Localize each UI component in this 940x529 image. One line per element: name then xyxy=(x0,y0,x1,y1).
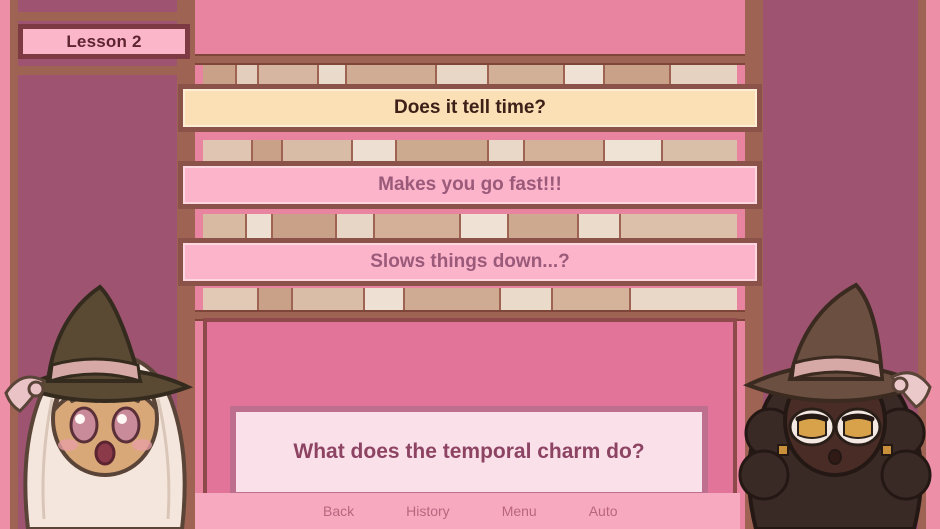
menu-item-menu[interactable]: Menu xyxy=(502,503,537,519)
left-panel-rail-top xyxy=(18,12,177,21)
lesson-badge: Lesson 2 xyxy=(18,24,190,59)
game-screen: Lesson 2 Does it tell time? Makes you go… xyxy=(0,0,940,529)
character-sprite-right xyxy=(730,269,940,529)
shelf-rail-1 xyxy=(195,54,745,65)
left-panel-rail-mid xyxy=(18,66,177,75)
choice-button-2[interactable]: Makes you go fast!!! xyxy=(178,161,762,209)
dialogue-box[interactable]: What does the temporal charm do? xyxy=(230,406,708,498)
choice-button-1[interactable]: Does it tell time? xyxy=(178,84,762,132)
bottom-menu-bar: Back History Menu Auto xyxy=(195,493,740,529)
menu-item-history[interactable]: History xyxy=(406,503,450,519)
dialogue-text: What does the temporal charm do? xyxy=(279,440,658,464)
menu-item-auto[interactable]: Auto xyxy=(589,503,618,519)
choice-button-3[interactable]: Slows things down...? xyxy=(178,238,762,286)
choice-list: Does it tell time? Makes you go fast!!! … xyxy=(178,84,762,315)
character-sprite-left xyxy=(0,269,210,529)
menu-item-back[interactable]: Back xyxy=(323,503,354,519)
